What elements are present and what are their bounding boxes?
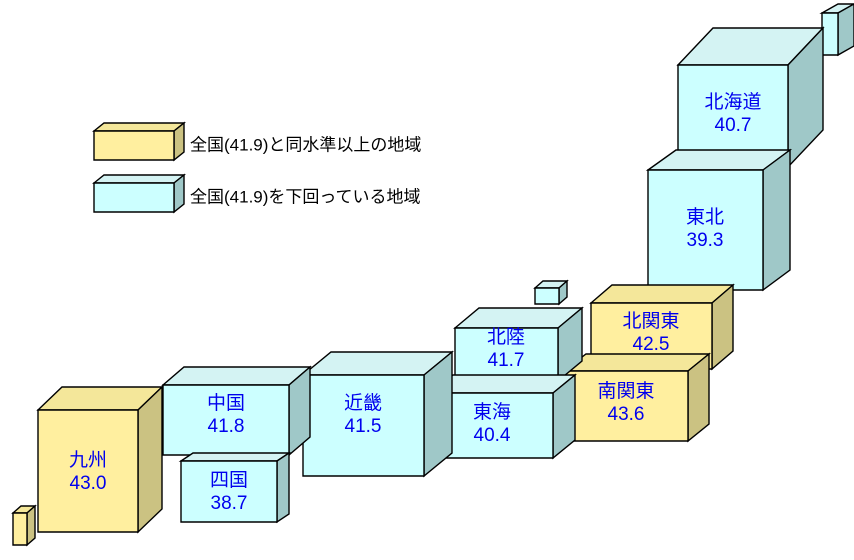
region-block-shikoku[interactable]: 四国 38.7 (181, 453, 289, 522)
region-value-chugoku: 41.8 (208, 416, 245, 437)
region-value-hokkaido: 40.7 (715, 115, 752, 136)
region-label-kita-kanto: 北関東 (622, 310, 679, 332)
region-value-hokuriku: 41.7 (488, 350, 525, 371)
region-block-tohoku[interactable]: 東北 39.3 (648, 150, 790, 290)
region-label-hokuriku: 北陸 (487, 326, 525, 348)
region-block-hokkaido[interactable]: 北海道 40.7 (678, 28, 823, 167)
region-label-hokkaido: 北海道 (704, 91, 761, 113)
legend-swatch-above-face (94, 131, 174, 160)
legend-item-below[interactable]: 全国(41.9)を下回っている地域 (94, 175, 421, 212)
region-block-minami-kanto[interactable]: 南関東 43.6 (564, 354, 709, 441)
region-value-kyushu: 43.0 (70, 473, 107, 494)
region-label-kinki: 近畿 (344, 392, 382, 414)
legend-swatch-below-top (94, 175, 184, 183)
region-value-kinki: 41.5 (345, 416, 382, 437)
region-block-kyushu[interactable]: 九州 43.0 (38, 387, 162, 532)
region-label-tokai: 東海 (473, 401, 511, 423)
region-value-tohoku: 39.3 (687, 230, 724, 251)
japan-prefecture-block-chart: 北海道 40.7 東北 39.3 北関東 42.5 南関東 43.6 (0, 0, 854, 560)
legend-swatch-below-face (94, 183, 174, 212)
legend: 全国(41.9)と同水準以上の地域 全国(41.9)を下回っている地域 (94, 123, 421, 212)
legend-label-below: 全国(41.9)を下回っている地域 (190, 187, 421, 206)
region-value-shikoku: 38.7 (211, 493, 248, 514)
legend-item-above[interactable]: 全国(41.9)と同水準以上の地域 (94, 123, 421, 160)
region-label-tohoku: 東北 (686, 206, 724, 228)
legend-label-above: 全国(41.9)と同水準以上の地域 (190, 135, 421, 154)
legend-swatch-above-top (94, 123, 184, 131)
region-value-minami-kanto: 43.6 (608, 404, 645, 425)
region-block-hokuriku[interactable]: 北陸 41.7 (455, 308, 582, 381)
islet-southwest (13, 506, 35, 545)
region-value-tokai: 40.4 (474, 425, 511, 446)
region-label-chugoku: 中国 (207, 392, 245, 414)
region-label-minami-kanto: 南関東 (597, 380, 654, 402)
region-value-kita-kanto: 42.5 (633, 334, 670, 355)
region-block-chugoku[interactable]: 中国 41.8 (163, 367, 310, 455)
region-block-kinki[interactable]: 近畿 41.5 (303, 352, 452, 476)
islet-northeast (822, 4, 854, 55)
region-label-kyushu: 九州 (69, 449, 107, 471)
islet-central (535, 281, 567, 304)
region-label-shikoku: 四国 (210, 470, 248, 491)
chart-canvas: 北海道 40.7 東北 39.3 北関東 42.5 南関東 43.6 (0, 0, 854, 560)
